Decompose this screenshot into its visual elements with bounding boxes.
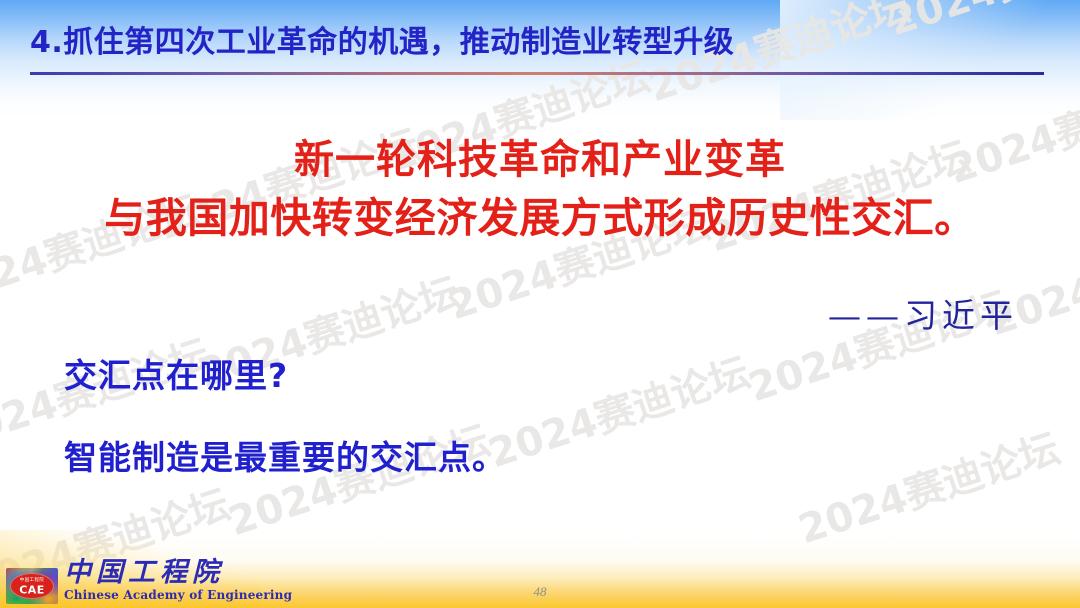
quote-attribution: ——习近平 bbox=[828, 289, 1018, 337]
slide-title-row: 4.抓住第四次工业革命的机遇，推动制造业转型升级 bbox=[30, 26, 1050, 59]
quote-line-2: 与我国加快转变经济发展方式形成历史性交汇。 bbox=[36, 189, 1044, 247]
watermark-text: 2024赛迪论坛 bbox=[480, 340, 756, 479]
top-right-glow bbox=[780, 0, 1080, 120]
emblem-micro-text: 中国工程院 bbox=[20, 577, 45, 583]
statement-answer: 智能制造是最重要的交汇点。 bbox=[64, 438, 506, 478]
page-title: 4.抓住第四次工业革命的机遇，推动制造业转型升级 bbox=[30, 26, 1050, 59]
page-number: 48 bbox=[0, 584, 1080, 600]
statements-block: 交汇点在哪里? 智能制造是最重要的交汇点。 bbox=[64, 356, 506, 477]
quote-block: 新一轮科技革命和产业变革 与我国加快转变经济发展方式形成历史性交汇。 bbox=[36, 132, 1044, 247]
watermark-text: 2024赛迪论坛 bbox=[790, 416, 1066, 555]
slide-canvas: 2024赛迪论坛2024赛迪论坛2024赛迪论坛2024赛迪论坛2024赛迪论坛… bbox=[0, 0, 1080, 608]
quote-line-1: 新一轮科技革命和产业变革 bbox=[36, 132, 1044, 189]
title-divider bbox=[30, 72, 1044, 75]
statement-question: 交汇点在哪里? bbox=[64, 356, 506, 396]
